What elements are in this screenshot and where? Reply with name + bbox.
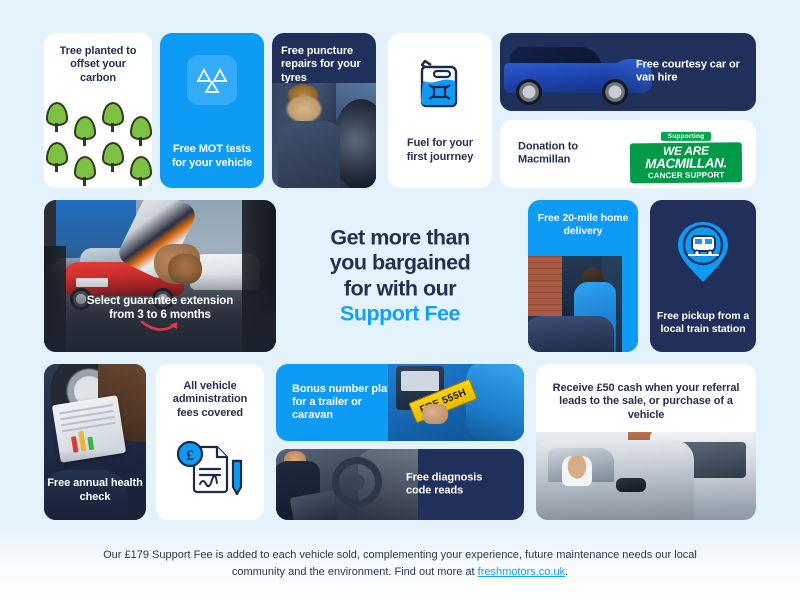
mot-triangles-icon xyxy=(187,55,237,105)
footer-text-after: . xyxy=(565,566,568,578)
tree-pattern-icon xyxy=(44,96,152,188)
tile-diagnosis-reads[interactable]: Free diagnosis code reads xyxy=(276,449,524,520)
tile-tree-planted[interactable]: Tree planted to offset your carbon xyxy=(44,33,152,188)
curved-arrow-icon xyxy=(139,319,181,340)
tile-mot-label: Free MOT tests for your vehicle xyxy=(160,143,264,170)
headline-line-1: Get more than xyxy=(330,225,469,249)
train-map-pin-icon xyxy=(674,218,732,291)
tile-bonus-number-plate[interactable]: Bonus number plate for a trailer or cara… xyxy=(276,364,524,441)
macmillan-logo: Supporting WE ARE MACMILLAN. CANCER SUPP… xyxy=(630,125,742,183)
benefits-grid: Tree planted to offset your carbon xyxy=(0,0,800,600)
tile-delivery-label: Free 20-mile home delivery xyxy=(528,200,638,238)
tile-home-delivery[interactable]: Free 20-mile home delivery xyxy=(528,200,638,352)
home-delivery-photo xyxy=(528,256,638,352)
blue-car-photo xyxy=(504,39,654,105)
tile-admin-fees[interactable]: All vehicle administration fees covered … xyxy=(156,364,264,520)
tile-tree-label: Tree planted to offset your carbon xyxy=(44,33,152,85)
macmillan-line3: CANCER SUPPORT xyxy=(635,170,737,180)
support-fee-infographic: Tree planted to offset your carbon xyxy=(0,0,800,600)
tile-fuel-label: Fuel for your first jourrney xyxy=(388,137,492,164)
tile-referral-cash[interactable]: Receive £50 cash when your referral lead… xyxy=(536,364,756,520)
number-plate-photo: FRE 555H xyxy=(388,364,524,441)
driver-car-photo xyxy=(536,432,756,520)
headline-line-3: for with our xyxy=(344,276,456,300)
tile-puncture-label: Free puncture repairs for your tyres xyxy=(272,33,376,85)
tile-diag-label: Free diagnosis code reads xyxy=(406,471,502,498)
fuel-can-icon xyxy=(417,59,463,114)
tile-guarantee-label: Select guarantee extension from 3 to 6 m… xyxy=(44,294,276,322)
tile-referral-label: Receive £50 cash when your referral lead… xyxy=(536,364,756,422)
tile-guarantee-extension[interactable]: Select guarantee extension from 3 to 6 m… xyxy=(44,200,276,352)
headline-line-2: you bargained xyxy=(330,251,470,275)
tile-plate-label: Bonus number plate for a trailer or cara… xyxy=(292,382,398,422)
tile-courtesy-car[interactable]: Free courtesy car or van hire xyxy=(500,33,756,111)
svg-text:£: £ xyxy=(186,448,194,464)
tile-macmillan-label: Donation to Macmillan xyxy=(518,141,618,168)
tile-macmillan-donation[interactable]: Donation to Macmillan Supporting WE ARE … xyxy=(500,120,756,188)
tyre-repair-photo xyxy=(272,83,376,188)
tile-train-pickup[interactable]: Free pickup from a local train station xyxy=(650,200,756,352)
page-title: Get more than you bargained for with our… xyxy=(288,225,512,326)
macmillan-supporting-text: Supporting xyxy=(661,132,712,141)
macmillan-line2: MACMILLAN. xyxy=(635,156,737,171)
tile-annual-health-check[interactable]: Free annual health check xyxy=(44,364,146,520)
headline-block: Get more than you bargained for with our… xyxy=(288,200,512,352)
tile-puncture-repairs[interactable]: Free puncture repairs for your tyres xyxy=(272,33,376,188)
tile-guarantee-line1: Select guarantee extension xyxy=(56,294,264,308)
footer-disclaimer: Our £179 Support Fee is added to each ve… xyxy=(0,547,800,582)
tile-courtesy-label: Free courtesy car or van hire xyxy=(636,59,740,86)
tile-free-fuel[interactable]: Fuel for your first jourrney xyxy=(388,33,492,188)
tile-train-label: Free pickup from a local train station xyxy=(650,310,756,336)
diagnostics-photo xyxy=(276,449,418,520)
tile-health-label: Free annual health check xyxy=(44,477,146,504)
pound-document-pencil-icon: £ xyxy=(173,437,247,500)
headline-accent: Support Fee xyxy=(288,301,512,326)
footer-text: Our £179 Support Fee is added to each ve… xyxy=(103,549,697,579)
footer-link[interactable]: freshmotors.co.uk xyxy=(478,566,565,578)
tile-free-mot[interactable]: Free MOT tests for your vehicle xyxy=(160,33,264,188)
tile-admin-label: All vehicle administration fees covered xyxy=(156,364,264,420)
